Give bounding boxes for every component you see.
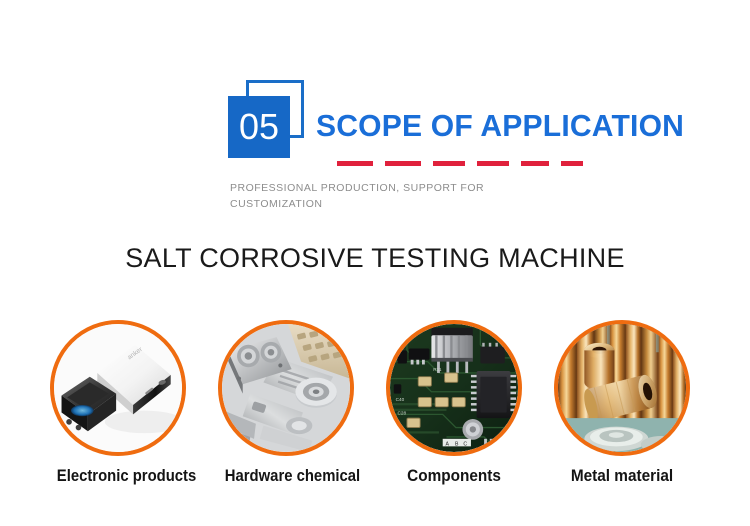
application-card: Hardware chemical — [218, 320, 354, 500]
section-number-badge: 05 — [228, 80, 306, 162]
application-scope-banner: 05 SCOPE OF APPLICATION PROFESSIONAL PRO… — [0, 0, 750, 526]
svg-text:A: A — [446, 441, 450, 447]
application-card: Metal material — [554, 320, 690, 500]
section-title: SCOPE OF APPLICATION — [316, 108, 684, 144]
photo-ring — [218, 320, 354, 456]
photo-ring: anker — [50, 320, 186, 456]
dashed-divider — [337, 161, 583, 166]
hardware-chemical-photo — [222, 324, 350, 452]
section-subtitle: PROFESSIONAL PRODUCTION, SUPPORT FOR CUS… — [230, 180, 540, 212]
divider-dash — [521, 161, 549, 166]
svg-text:C40: C40 — [396, 397, 405, 402]
application-card-label: Components — [391, 467, 517, 486]
metal-material-photo — [558, 324, 686, 452]
svg-text:R11: R11 — [433, 367, 442, 372]
divider-dash — [385, 161, 421, 166]
divider-dash — [477, 161, 509, 166]
svg-text:B: B — [455, 441, 459, 447]
section-number: 05 — [228, 96, 290, 158]
application-card-label: Metal material — [559, 467, 685, 486]
application-card-list: anker Electronic produc — [50, 320, 700, 500]
components-photo: C40 C28 R11 A B C — [390, 324, 518, 452]
svg-text:C28: C28 — [398, 410, 407, 415]
divider-dash — [561, 161, 583, 166]
application-card: C40 C28 R11 A B C — [386, 320, 522, 500]
section-header: 05 SCOPE OF APPLICATION PROFESSIONAL PRO… — [0, 0, 750, 230]
photo-ring: C40 C28 R11 A B C — [386, 320, 522, 456]
product-title: SALT CORROSIVE TESTING MACHINE — [0, 243, 750, 274]
application-card-label: Hardware chemical — [225, 467, 347, 486]
divider-dash — [433, 161, 465, 166]
electronic-products-photo: anker — [54, 324, 182, 452]
divider-dash — [337, 161, 373, 166]
photo-ring — [554, 320, 690, 456]
application-card-label: Electronic products — [57, 467, 179, 486]
application-card: anker Electronic produc — [50, 320, 186, 500]
svg-text:C: C — [463, 441, 467, 447]
